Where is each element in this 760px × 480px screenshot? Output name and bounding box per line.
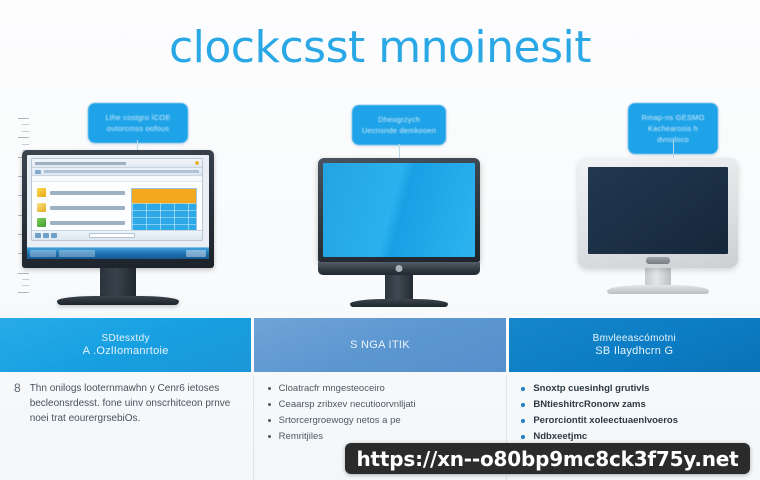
section-header-line1: SDtesxtdy bbox=[102, 332, 150, 345]
list-item-label: Ceaarsp zribxev necutioorvnlljati bbox=[279, 397, 416, 413]
list-item: BNtieshitrcRonorw zams bbox=[521, 397, 746, 413]
start-button[interactable] bbox=[30, 250, 56, 257]
desktop-window[interactable] bbox=[31, 158, 203, 241]
section-header-line2: A .OzlIomanrtoie bbox=[83, 345, 169, 358]
list-item[interactable] bbox=[37, 218, 125, 227]
address-field[interactable] bbox=[44, 170, 199, 173]
list-marker: 8 bbox=[14, 381, 21, 426]
grid-green-icon bbox=[37, 218, 46, 227]
list-item-label: Remritjiles bbox=[279, 429, 323, 445]
section-header-line1: Bmvleeascómotni bbox=[593, 332, 676, 345]
callout-badge-center[interactable]: Dheogrzych Uecnsnde demkooen bbox=[352, 105, 446, 145]
bullet-dot-icon bbox=[521, 435, 525, 439]
list-item: Perorciontit xoleectuaenlvoeros bbox=[521, 413, 746, 429]
monitor-base bbox=[57, 296, 179, 305]
list-item: Cloatracfr mngesteoceiro bbox=[268, 381, 493, 397]
window-title-text bbox=[35, 162, 192, 165]
paragraph-text: Thn onilogs looternmawhn y Cenr6 ietoses… bbox=[30, 381, 239, 426]
desktop-item-list bbox=[37, 188, 125, 232]
status-icon bbox=[51, 233, 57, 238]
bullet-list: Cloatracfr mngesteoceiro Ceaarsp zribxev… bbox=[268, 381, 493, 445]
badge-connector-right bbox=[673, 140, 674, 160]
brand-logo-icon bbox=[396, 265, 403, 272]
taskbar-clock bbox=[186, 250, 206, 257]
section-header-center[interactable]: S NGA ITIK bbox=[254, 318, 505, 372]
bullet-dot-icon bbox=[521, 387, 525, 391]
monitor-neck bbox=[645, 268, 671, 285]
status-bar bbox=[32, 230, 202, 240]
content-preview-panel bbox=[131, 188, 197, 232]
taskbar-item[interactable] bbox=[59, 250, 95, 257]
monitor-windows-desktop[interactable] bbox=[22, 150, 214, 305]
monitor-bezel bbox=[318, 158, 480, 262]
section-header-line2: S NGA ITIK bbox=[350, 339, 410, 352]
list-item: Snoxtp cuesinhgl grutivls bbox=[521, 381, 746, 397]
list-item-label: Perorciontit xoleectuaenlvoeros bbox=[533, 413, 678, 429]
section-header-left[interactable]: SDtesxtdy A .OzlIomanrtoie bbox=[0, 318, 251, 372]
list-item-label bbox=[50, 191, 125, 195]
monitor-screen bbox=[27, 155, 209, 259]
taskbar[interactable] bbox=[27, 247, 209, 259]
callout-badge-left[interactable]: Lthe costgro íCOE outorcmss oofous bbox=[88, 103, 188, 143]
section-header-line2: SB Ilaydhcrn G bbox=[595, 345, 673, 358]
monitor-screen bbox=[588, 167, 728, 254]
address-bar[interactable] bbox=[32, 168, 202, 176]
back-icon[interactable] bbox=[35, 170, 41, 174]
bullet-dot-icon bbox=[521, 403, 525, 407]
folder-yellow-icon bbox=[37, 203, 46, 212]
bullet-dot-icon bbox=[268, 419, 271, 422]
section-header-right[interactable]: Bmvleeascómotni SB Ilaydhcrn G bbox=[509, 318, 760, 372]
poster-canvas: clockcsst mnoinesit Lthe costgro íCOE ou… bbox=[0, 0, 760, 480]
list-item: Ceaarsp zribxev necutioorvnlljati bbox=[268, 397, 493, 413]
list-item-label bbox=[50, 206, 125, 210]
monitor-screen bbox=[323, 163, 475, 257]
bullet-dot-icon bbox=[268, 387, 271, 390]
list-item-label: Cloatracfr mngesteoceiro bbox=[279, 381, 385, 397]
bullet-list: Snoxtp cuesinhgl grutivls BNtieshitrcRon… bbox=[521, 381, 746, 445]
monitor-neck bbox=[100, 268, 136, 296]
list-item[interactable] bbox=[37, 203, 125, 212]
list-item[interactable] bbox=[37, 188, 125, 197]
power-button-icon[interactable] bbox=[646, 257, 670, 264]
monitor-dark-screen[interactable] bbox=[578, 158, 738, 294]
monitor-base bbox=[607, 285, 709, 294]
url-text: https://xn--o80bp9mc8ck3f75y.net bbox=[356, 447, 738, 471]
bullet-dot-icon bbox=[268, 403, 271, 406]
status-icon bbox=[43, 233, 49, 238]
folder-yellow-icon bbox=[37, 188, 46, 197]
bullet-dot-icon bbox=[268, 435, 271, 438]
list-item-label: Snoxtp cuesinhgl grutivls bbox=[533, 381, 649, 397]
bullet-dot-icon bbox=[521, 419, 525, 423]
list-item-label: Srtorcergroewogy netos a pe bbox=[279, 413, 401, 429]
window-titlebar bbox=[32, 159, 202, 168]
page-title: clockcsst mnoinesit bbox=[0, 22, 760, 74]
list-item-label bbox=[50, 221, 125, 225]
status-field bbox=[89, 233, 135, 238]
monitor-base bbox=[350, 299, 448, 307]
monitor-bezel bbox=[22, 150, 214, 268]
monitor-blue-screen[interactable] bbox=[318, 158, 480, 307]
section-header-bars: SDtesxtdy A .OzlIomanrtoie S NGA ITIK Bm… bbox=[0, 318, 760, 372]
status-icon bbox=[35, 233, 41, 238]
monitor-bezel bbox=[578, 158, 738, 268]
paragraph-block: 8 Thn onilogs looternmawhn y Cenr6 ietos… bbox=[14, 381, 239, 426]
window-icon bbox=[195, 161, 199, 165]
monitor-chin bbox=[318, 262, 480, 275]
list-item: Srtorcergroewogy netos a pe bbox=[268, 413, 493, 429]
list-item-label: BNtieshitrcRonorw zams bbox=[533, 397, 645, 413]
monitor-neck bbox=[385, 275, 413, 299]
url-watermark[interactable]: https://xn--o80bp9mc8ck3f75y.net bbox=[345, 443, 750, 474]
column-left: 8 Thn onilogs looternmawhn y Cenr6 ietos… bbox=[0, 375, 253, 480]
